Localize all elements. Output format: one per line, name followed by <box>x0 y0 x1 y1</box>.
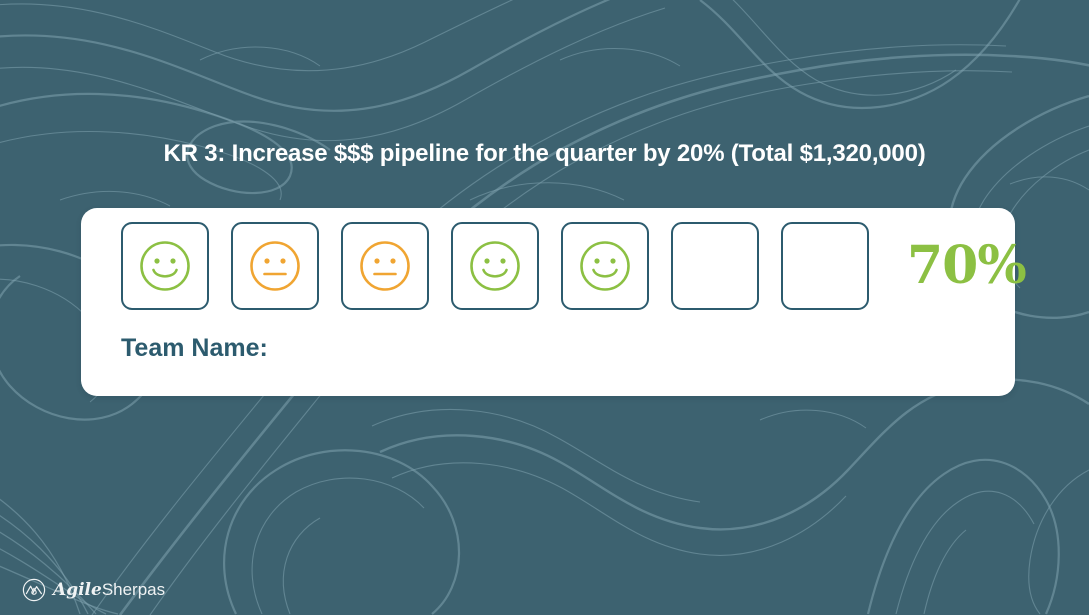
rating-box-2[interactable] <box>231 222 319 310</box>
agilesherpas-logo: AgileSherpas <box>22 578 165 602</box>
rating-box-4[interactable] <box>451 222 539 310</box>
neutral-face-icon <box>357 238 413 294</box>
rating-boxes-row: 70% <box>121 222 1026 310</box>
rating-box-5[interactable] <box>561 222 649 310</box>
logo-word-agile: Agile <box>53 580 102 600</box>
happy-face-icon <box>137 238 193 294</box>
rating-box-3[interactable] <box>341 222 429 310</box>
agilesherpas-mountain-circle-icon <box>22 578 46 602</box>
slide-canvas: KR 3: Increase $$$ pipeline for the quar… <box>0 0 1089 615</box>
team-name-label: Team Name: <box>121 333 268 363</box>
logo-word-sherpas: Sherpas <box>102 580 165 599</box>
logo-wordmark: AgileSherpas <box>53 580 165 600</box>
score-percentage: 70% <box>907 240 1026 292</box>
happy-face-icon <box>467 238 523 294</box>
rating-box-7[interactable] <box>781 222 869 310</box>
kr-progress-card: 70% Team Name: <box>81 208 1015 396</box>
rating-box-6[interactable] <box>671 222 759 310</box>
happy-face-icon <box>577 238 633 294</box>
neutral-face-icon <box>247 238 303 294</box>
page-title: KR 3: Increase $$$ pipeline for the quar… <box>0 139 1089 169</box>
rating-box-1[interactable] <box>121 222 209 310</box>
